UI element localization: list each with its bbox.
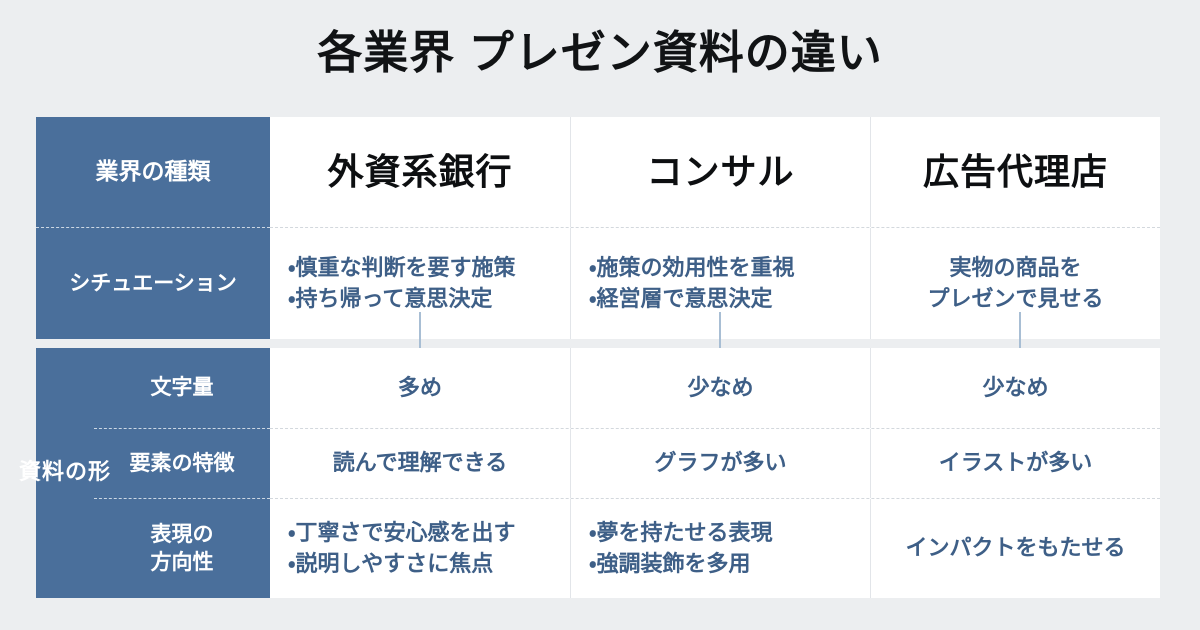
table-data-top: 外資系銀行 コンサル 広告代理店 ・慎重な判断を要す施策 ・持ち帰って意思決定 … [270,117,1160,339]
table-row-text-volume: 多め 少なめ 少なめ [270,348,1160,428]
group-label-char-1: 資 [19,457,42,486]
expression-cell-consulting: ・夢を持たせる表現 ・強調装飾を多用 [570,499,870,598]
row-label-expression-line-2: 方向性 [151,549,214,576]
expression-consulting-line-1: ・夢を持たせる表現 [589,518,772,548]
group-label-document-form: 資 料 の 形 [36,348,94,598]
element-features-cell-ad-agency: イラストが多い [870,429,1160,498]
group-label-char-3: の [65,457,88,486]
row-label-text-volume: 文字量 [94,348,270,428]
expression-ad-agency-line-1: インパクトをもたせる [905,533,1125,563]
table-row-element-features: 読んで理解できる グラフが多い イラストが多い [270,428,1160,498]
situation-ad-agency-line-1: 実物の商品を [949,253,1081,283]
industry-header-consulting: コンサル [570,117,870,227]
row-label-situation: シチュエーション [36,227,270,339]
expression-bank-line-1: ・丁寧さで安心感を出す [288,518,515,548]
text-volume-cell-consulting: 少なめ [570,348,870,428]
expression-cell-ad-agency: インパクトをもたせる [870,499,1160,598]
sub-row-labels: 文字量 要素の特徴 表現の 方向性 [94,348,270,598]
industry-header-ad-agency-label: 広告代理店 [923,147,1108,197]
table-row-expression-direction: ・丁寧さで安心感を出す ・説明しやすさに焦点 ・夢を持たせる表現 ・強調装飾を多… [270,498,1160,598]
text-volume-cell-bank: 多め [270,348,570,428]
page-title: 各業界 プレゼン資料の違い [0,26,1200,80]
situation-consulting-line-1: ・施策の効用性を重視 [589,253,794,283]
expression-bank-line-2: ・説明しやすさに焦点 [288,549,493,579]
element-features-cell-bank: 読んで理解できる [270,429,570,498]
row-label-column-top: 業界の種類 シチュエーション [36,117,270,339]
situation-consulting-line-2: ・経営層で意思決定 [589,284,772,314]
infographic-page: 各業界 プレゼン資料の違い 業界の種類 シチュエーション 外資系銀行 コンサル … [0,0,1200,630]
situation-bank-line-2: ・持ち帰って意思決定 [288,284,492,314]
element-features-bank-value: 読んで理解できる [333,448,507,478]
situation-bank-line-1: ・慎重な判断を要す施策 [288,253,515,283]
element-features-ad-agency-value: イラストが多い [939,448,1093,478]
text-volume-consulting-value: 少なめ [687,373,753,403]
text-volume-ad-agency-value: 少なめ [982,373,1048,403]
table-data-bottom: 多め 少なめ 少なめ 読んで理解できる グラフが多い イラストが多い [270,348,1160,598]
element-features-cell-consulting: グラフが多い [570,429,870,498]
row-label-expression-direction: 表現の 方向性 [94,498,270,598]
row-label-expression-line-1: 表現の [151,521,214,548]
expression-consulting-line-2: ・強調装飾を多用 [589,549,750,579]
group-label-char-2: 料 [42,457,65,486]
row-label-industry-type: 業界の種類 [36,117,270,227]
expression-cell-bank: ・丁寧さで安心感を出す ・説明しやすさに焦点 [270,499,570,598]
row-label-column-bottom: 資 料 の 形 文字量 要素の特徴 表現の 方向性 [36,348,270,598]
industry-header-consulting-label: コンサル [646,147,794,197]
table-block-bottom: 資 料 の 形 文字量 要素の特徴 表現の 方向性 多め 少なめ [36,348,1160,598]
industry-header-bank-label: 外資系銀行 [327,147,512,197]
industry-header-ad-agency: 広告代理店 [870,117,1160,227]
table-row-industries: 外資系銀行 コンサル 広告代理店 [270,117,1160,227]
text-volume-bank-value: 多め [398,373,442,403]
element-features-consulting-value: グラフが多い [654,448,786,478]
text-volume-cell-ad-agency: 少なめ [870,348,1160,428]
situation-ad-agency-line-2: プレゼンで見せる [927,284,1103,314]
table-block-top: 業界の種類 シチュエーション 外資系銀行 コンサル 広告代理店 ・慎重な判断を要… [36,117,1160,339]
row-label-element-features: 要素の特徴 [94,428,270,498]
industry-header-bank: 外資系銀行 [270,117,570,227]
